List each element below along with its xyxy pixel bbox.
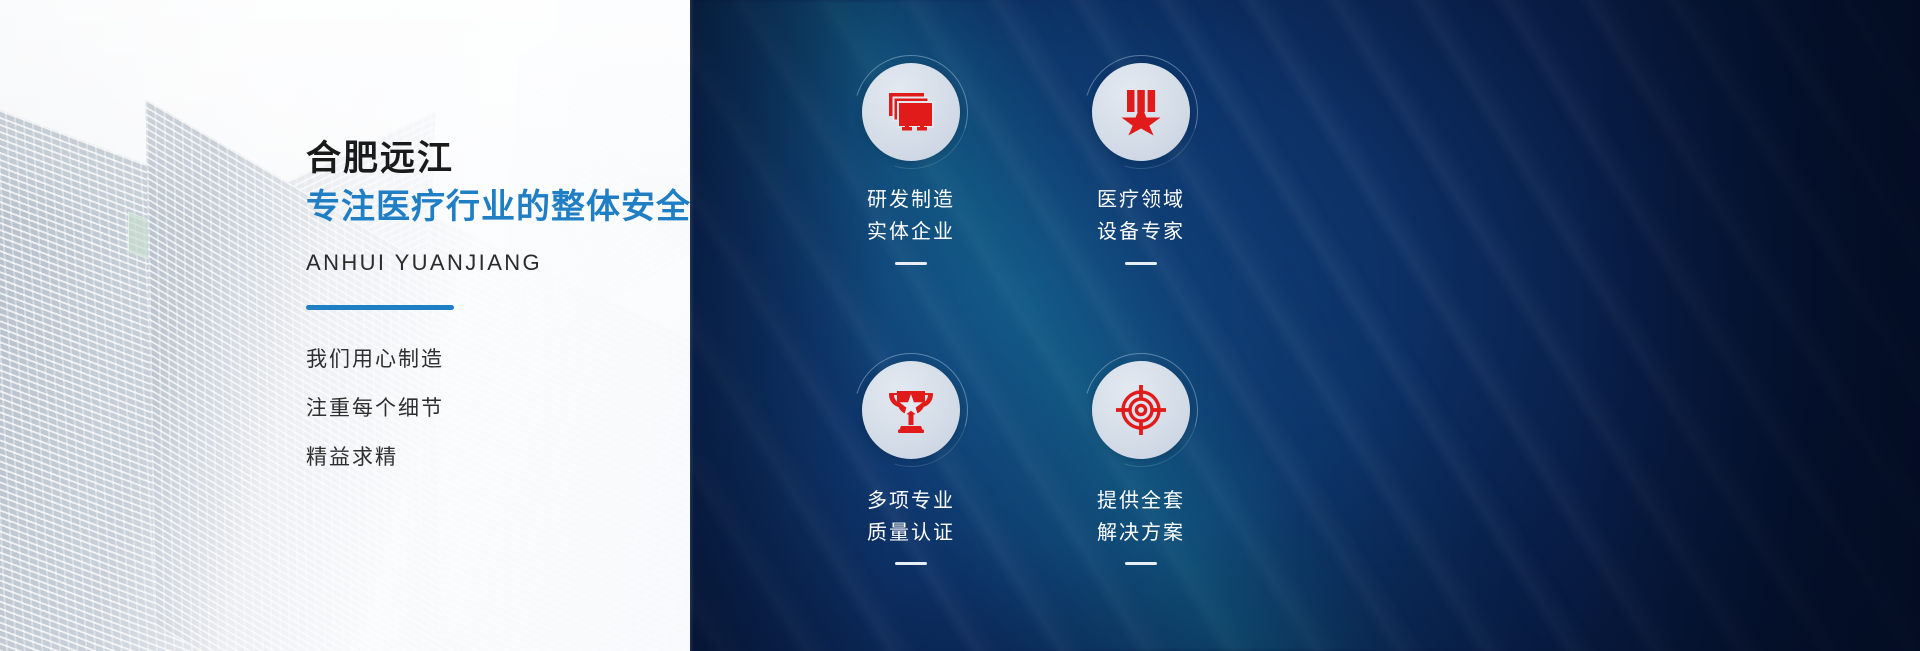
trophy-star-icon (887, 386, 935, 434)
feature-grid: 研发制造 实体企业 (796, 0, 1356, 651)
feature-labels: 多项专业 质量认证 (867, 484, 955, 566)
factory-stacked-building-icon (886, 90, 936, 134)
hero-banner: 合肥远江 专注医疗行业的整体安全 ANHUI YUANJIANG 我们用心制造 … (0, 0, 1920, 651)
feature-underline (895, 562, 927, 565)
feature-underline (895, 262, 927, 265)
feature-labels: 提供全套 解决方案 (1097, 484, 1185, 566)
feature-item-manufacturing[interactable]: 研发制造 实体企业 (796, 0, 1026, 326)
feature-label-line2: 设备专家 (1097, 215, 1185, 247)
value-points-list: 我们用心制造 注重每个细节 精益求精 (306, 349, 678, 468)
feature-label-line2: 实体企业 (867, 215, 955, 247)
accent-divider (306, 305, 454, 310)
feature-label-line2: 质量认证 (867, 516, 955, 548)
feature-label-line1: 提供全套 (1097, 484, 1185, 516)
panel-left-edge-highlight (690, 0, 694, 651)
target-crosshair-icon (1115, 384, 1167, 436)
company-subtitle-cn: 专注医疗行业的整体安全 (306, 185, 678, 229)
feature-label-line1: 研发制造 (867, 183, 955, 215)
icon-disc (1092, 63, 1190, 161)
feature-labels: 研发制造 实体企业 (867, 183, 955, 265)
right-panel: 研发制造 实体企业 (690, 0, 1920, 651)
feature-item-certifications[interactable]: 多项专业 质量认证 (796, 326, 1026, 651)
feature-labels: 医疗领域 设备专家 (1097, 183, 1185, 265)
icon-disc (1092, 361, 1190, 459)
feature-label-line1: 多项专业 (867, 484, 955, 516)
left-panel: 合肥远江 专注医疗行业的整体安全 ANHUI YUANJIANG 我们用心制造 … (0, 0, 690, 651)
feature-label-line2: 解决方案 (1097, 516, 1185, 548)
feature-underline (1125, 562, 1157, 565)
icon-wrapper (1092, 63, 1190, 161)
icon-wrapper (1092, 361, 1190, 459)
icon-disc (862, 361, 960, 459)
company-title-en: ANHUI YUANJIANG (306, 250, 678, 276)
left-copy-block: 合肥远江 专注医疗行业的整体安全 ANHUI YUANJIANG 我们用心制造 … (306, 138, 678, 468)
icon-disc (862, 63, 960, 161)
medal-star-icon (1118, 88, 1164, 136)
icon-wrapper (862, 361, 960, 459)
value-point: 注重每个细节 (306, 398, 678, 419)
value-point: 精益求精 (306, 447, 678, 468)
feature-item-medical-expert[interactable]: 医疗领域 设备专家 (1026, 0, 1256, 326)
feature-label-line1: 医疗领域 (1097, 183, 1185, 215)
feature-item-total-solution[interactable]: 提供全套 解决方案 (1026, 326, 1256, 651)
feature-underline (1125, 262, 1157, 265)
icon-wrapper (862, 63, 960, 161)
company-title-cn: 合肥远江 (306, 138, 678, 181)
value-point: 我们用心制造 (306, 349, 678, 370)
